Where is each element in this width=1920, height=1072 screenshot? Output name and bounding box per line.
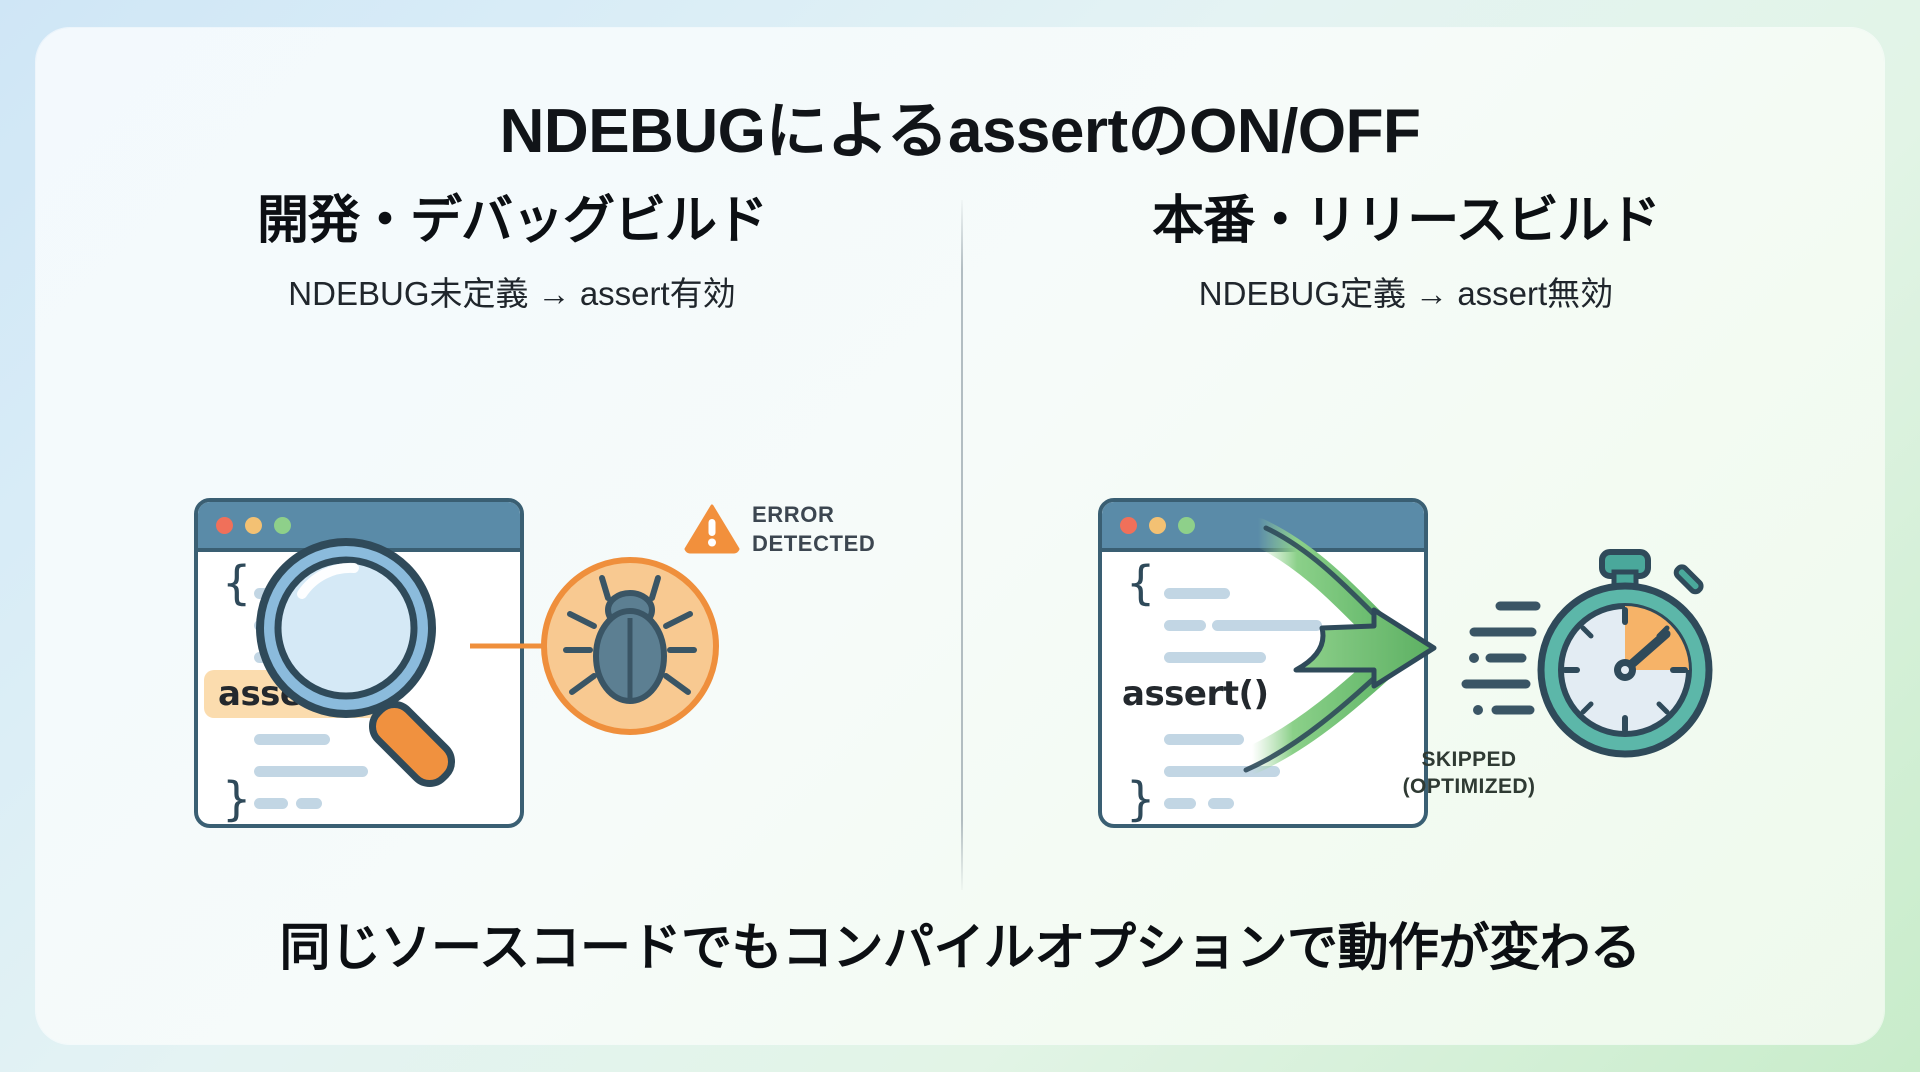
column-release: 本番・リリースビルド NDEBUG定義 → assert無効 { } [966,178,1846,738]
warning-triangle-icon [684,503,740,555]
error-detected-badge: ERROR DETECTED [684,500,875,558]
code-line [1164,766,1280,777]
code-body: { } assert() [198,552,520,828]
code-line [1164,798,1196,809]
code-line [254,588,322,599]
brace-open-icon: { [1126,560,1155,606]
code-line [1212,620,1322,631]
column-debug-heading: 開発・デバッグビルド [72,178,952,253]
debug-scene: { } assert() [72,498,952,898]
skipped-line-1: SKIPPED [1354,746,1584,773]
column-debug-subtitle: NDEBUG未定義 → assert有効 [72,267,952,315]
brace-open-icon: { [222,560,251,606]
brace-close-icon: } [222,776,251,822]
code-line [254,798,288,809]
window-minimize-dot-icon [1149,517,1166,534]
assert-token: assert() [1122,674,1269,714]
column-release-heading: 本番・リリースビルド [966,178,1846,253]
code-line [296,798,322,809]
window-close-dot-icon [216,517,233,534]
code-line [1164,620,1206,631]
skipped-optimized-badge: SKIPPED (OPTIMIZED) [1354,746,1584,801]
code-line [296,620,404,631]
infographic-stage: NDEBUGによるassertのON/OFF 開発・デバッグビルド NDEBUG… [0,0,1920,1072]
column-debug: 開発・デバッグビルド NDEBUG未定義 → assert有効 { } [72,178,952,738]
column-divider [961,200,963,890]
brace-close-icon: } [1126,776,1155,822]
bottom-caption: 同じソースコードでもコンパイルオプションで動作が変わる [36,906,1884,980]
code-line [1164,734,1244,745]
window-minimize-dot-icon [245,517,262,534]
code-line [254,652,354,663]
code-line [254,734,330,745]
error-line-2: DETECTED [752,529,875,558]
page-title: NDEBUGによるassertのON/OFF [36,80,1884,170]
skipped-line-2: (OPTIMIZED) [1354,773,1584,800]
assert-token-row: assert() [204,670,379,718]
window-titlebar [198,502,520,552]
content-card: NDEBUGによるassertのON/OFF 開発・デバッグビルド NDEBUG… [36,28,1884,1044]
code-line [1164,652,1266,663]
window-maximize-dot-icon [1178,517,1195,534]
error-line-1: ERROR [752,500,875,529]
code-window-debug: { } assert() [194,498,524,828]
window-close-dot-icon [1120,517,1137,534]
window-maximize-dot-icon [274,517,291,534]
column-release-subtitle: NDEBUG定義 → assert無効 [966,267,1846,315]
release-scene: { } assert() [966,498,1846,898]
code-line [1208,798,1234,809]
code-line [1164,588,1230,599]
assert-token-row: assert() [1108,670,1283,718]
assert-token: assert() [218,674,365,714]
window-titlebar [1102,502,1424,552]
code-line [254,620,284,631]
code-line [254,766,368,777]
